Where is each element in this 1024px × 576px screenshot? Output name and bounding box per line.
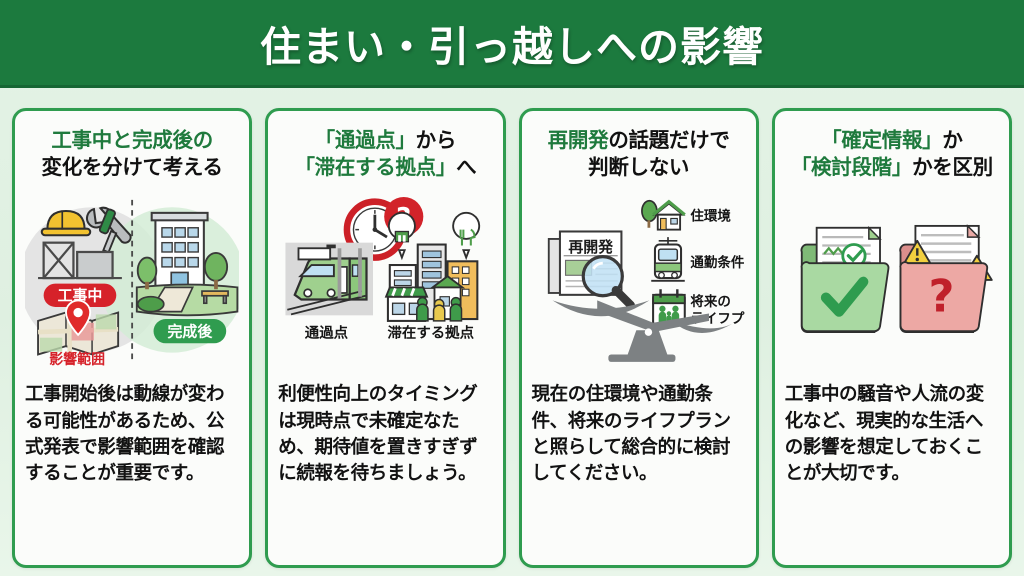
page-title: 住まい・引っ越しへの影響 (260, 13, 764, 73)
building-icon (152, 213, 208, 288)
restaurant-pin-icon (453, 213, 479, 258)
card-balanced-judgement[interactable]: 再開発の話題だけで 判断しない 再開発 (519, 108, 759, 568)
card-3-illustration: 再開発 (532, 184, 746, 374)
card-1-caption-left: 影響範囲 (49, 351, 105, 368)
city-buildings-icon (386, 245, 477, 321)
card-4-heading-green-2: 「検討段階」 (791, 155, 912, 179)
cards-row: 工事中と完成後の 変化を分けて考える (0, 108, 1024, 568)
card-3-criterion-label-2: 通勤条件 (690, 254, 744, 271)
card-3-heading-green-1: 再開発 (548, 128, 609, 152)
card-4-body: 工事中の騒音や人流の変化など、現実的な生活への影響を想定しておくことが大切です。 (785, 382, 999, 487)
card-3-heading-black-2: 判断しない (588, 155, 689, 179)
card-2-heading-green-1: 「通過点」 (315, 128, 416, 152)
card-4-heading-black-2: かを区別 (912, 155, 993, 179)
magnifier-icon (583, 257, 631, 305)
card-1-heading: 工事中と完成後の 変化を分けて考える (25, 127, 239, 180)
card-passing-vs-destination[interactable]: 「通過点」から 「滞在する拠点」へ (265, 108, 505, 568)
card-4-heading-green-1: 「確定情報」 (821, 128, 942, 152)
card-3-heading: 再開発の話題だけで 判断しない (532, 127, 746, 180)
card-3-heading-black-1: の話題だけで (608, 128, 729, 152)
card-2-label-right: 滞在する拠点 (388, 324, 475, 342)
card-4-illustration: ? (785, 184, 999, 374)
card-2-label-left: 通過点 (305, 325, 349, 342)
card-4-heading-black-1: か (942, 128, 962, 152)
card-3-newspaper-label: 再開発 (568, 238, 614, 256)
card-1-illustration: 工事中 影響範囲 (25, 184, 239, 374)
card-3-criterion-label-3a: 将来の (690, 293, 731, 310)
card-3-body: 現在の住環境や通勤条件、将来のライフプランと照らして総合的に検討してください。 (532, 382, 746, 487)
card-1-heading-green-1: 工事中と完成後の (51, 128, 213, 152)
card-1-heading-black-2: 変化を分けて考える (42, 155, 223, 179)
card-4-heading: 「確定情報」か 「検討段階」かを区別 (785, 127, 999, 180)
card-2-illustration: ? 通過点 (278, 184, 492, 374)
card-confirmed-vs-pending[interactable]: 「確定情報」か 「検討段階」かを区別 (772, 108, 1012, 568)
card-2-heading-green-2: 「滞在する拠点」 (294, 155, 456, 179)
house-tree-icon (641, 201, 684, 230)
train-icon (651, 237, 685, 281)
card-1-badge-right: 完成後 (168, 323, 214, 341)
red-folder-icon: ? (900, 226, 992, 332)
card-2-heading: 「通過点」から 「滞在する拠点」へ (278, 127, 492, 180)
card-1-body: 工事開始後は動線が変わる可能性があるため、公式発表で影響範囲を確認することが重要… (25, 382, 239, 487)
slide-title-bar: 住まい・引っ越しへの影響 (0, 0, 1024, 88)
card-4-question-symbol: ? (928, 270, 954, 323)
people-icon (417, 298, 462, 321)
completed-badge: 完成後 (154, 319, 227, 343)
card-2-heading-black-2: へ (456, 155, 476, 179)
card-2-body: 利便性向上のタイミングは現時点で未確定なため、期待値を置きすぎずに続報を待ちまし… (278, 382, 492, 487)
card-construction-phases[interactable]: 工事中と完成後の 変化を分けて考える (12, 108, 252, 568)
card-3-criterion-label-1: 住環境 (690, 208, 731, 225)
green-folder-icon (801, 228, 888, 332)
card-2-heading-black-1: から (416, 128, 456, 152)
